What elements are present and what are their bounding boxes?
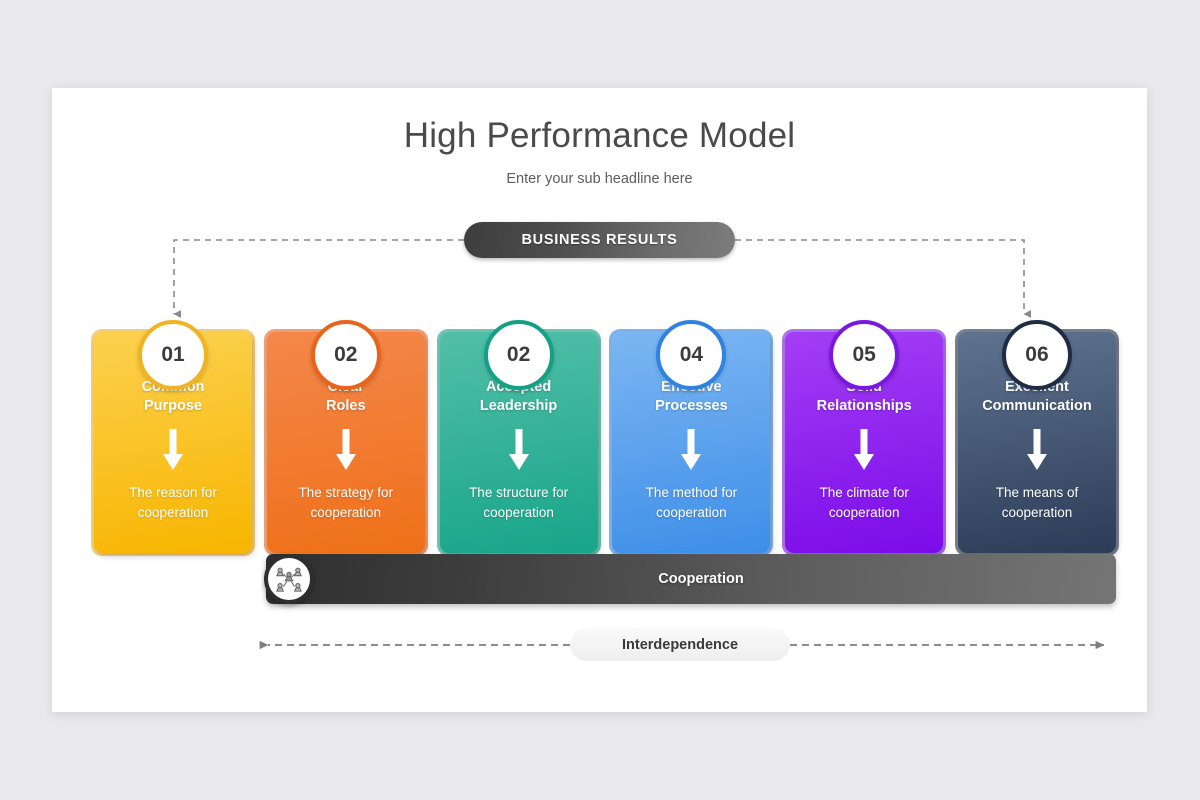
card-number-badge: 04 [656, 320, 726, 390]
card-3[interactable]: AcceptedLeadershipThe structure forcoope… [440, 320, 598, 553]
card-number-badge: 01 [138, 320, 208, 390]
card-5[interactable]: SolidRelationshipsThe climate forcoopera… [785, 320, 943, 553]
card-number-badge: 05 [829, 320, 899, 390]
card-description-line2: cooperation [138, 505, 209, 520]
card-title-line2: Processes [655, 398, 728, 414]
card-description-line2: cooperation [483, 505, 554, 520]
business-results-label: BUSINESS RESULTS [522, 232, 678, 248]
page-title: High Performance Model [52, 116, 1147, 156]
card-description-line2: cooperation [656, 505, 727, 520]
card-number-badge: 02 [311, 320, 381, 390]
card-title-line2: Roles [326, 398, 366, 414]
card-number-badge: 06 [1002, 320, 1072, 390]
down-arrow-icon [680, 429, 702, 471]
cooperation-bar[interactable]: Cooperation [266, 554, 1116, 604]
card-description-line2: cooperation [1002, 505, 1073, 520]
card-row: CommonPurposeThe reason forcooperation01… [94, 320, 1116, 553]
page-subtitle: Enter your sub headline here [52, 171, 1147, 187]
card-description: The climate forcooperation [785, 483, 943, 523]
card-title-line2: Communication [982, 398, 1092, 414]
card-description: The structure forcooperation [440, 483, 598, 523]
card-1[interactable]: CommonPurposeThe reason forcooperation01 [94, 320, 252, 553]
cooperation-label: Cooperation [658, 571, 743, 587]
interdependence-pill[interactable]: Interdependence [570, 628, 790, 661]
interdependence-label: Interdependence [622, 637, 738, 653]
slide-canvas: High Performance Model Enter your sub he… [52, 88, 1147, 712]
card-title-line2: Relationships [817, 398, 912, 414]
card-description-line2: cooperation [311, 505, 382, 520]
teamwork-network-glyph [274, 564, 304, 594]
card-description: The reason forcooperation [94, 483, 252, 523]
down-arrow-icon [853, 429, 875, 471]
teamwork-network-icon [264, 554, 314, 604]
down-arrow-icon [335, 429, 357, 471]
card-6[interactable]: ExcellentCommunicationThe means ofcooper… [958, 320, 1116, 553]
down-arrow-icon [1026, 429, 1048, 471]
down-arrow-icon [508, 429, 530, 471]
card-description: The method forcooperation [612, 483, 770, 523]
business-results-banner[interactable]: BUSINESS RESULTS [464, 222, 735, 258]
card-description-line2: cooperation [829, 505, 900, 520]
card-number-badge: 02 [484, 320, 554, 390]
card-description: The means ofcooperation [958, 483, 1116, 523]
card-4[interactable]: EffectiveProcessesThe method forcooperat… [612, 320, 770, 553]
card-title-line2: Purpose [144, 398, 202, 414]
card-2[interactable]: ClearRolesThe strategy forcooperation02 [267, 320, 425, 553]
card-description: The strategy forcooperation [267, 483, 425, 523]
down-arrow-icon [162, 429, 184, 471]
card-title-line2: Leadership [480, 398, 557, 414]
